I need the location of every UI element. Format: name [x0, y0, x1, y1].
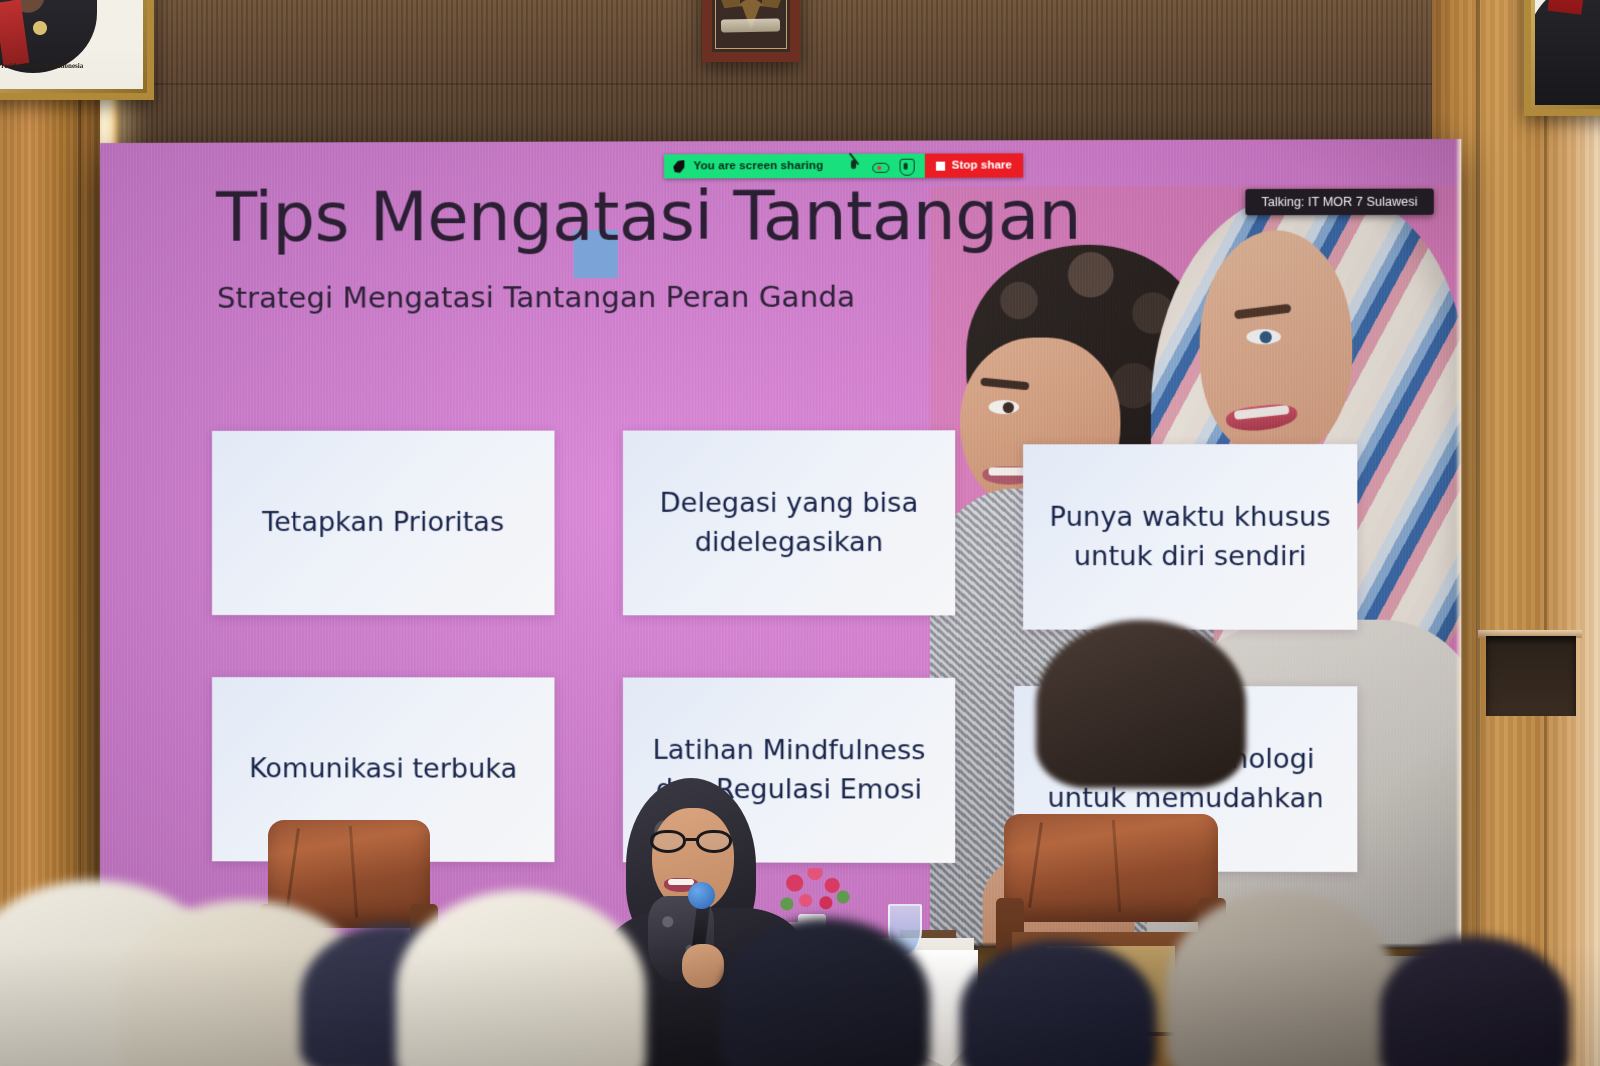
- garuda-icon: [714, 0, 788, 30]
- portrait-left-caption: Presiden Republik Indonesia: [0, 61, 91, 83]
- tip-card-label: Delegasi yang bisa didelegasikan: [623, 483, 955, 562]
- microphone-muted-icon[interactable]: [844, 157, 861, 174]
- portrait-figure: [1535, 0, 1600, 105]
- screenshot-root: Presiden Republik Indonesia Wakil: [0, 0, 1600, 1066]
- slide-subtitle: Strategi Mengatasi Tantangan Peran Ganda: [217, 280, 855, 315]
- portrait-right-art: Wakil: [1535, 0, 1600, 105]
- sharing-status-group: You are screen sharing: [664, 154, 924, 179]
- sharing-status-label: You are screen sharing: [693, 160, 835, 172]
- security-shield-icon[interactable]: [897, 157, 914, 174]
- woman-eye: [1246, 329, 1281, 344]
- eyeglasses-icon: [648, 830, 740, 854]
- talking-badge: Talking: IT MOR 7 Sulawesi: [1245, 189, 1434, 216]
- audience-head: [1036, 620, 1246, 788]
- portrait-left-art: Presiden Republik Indonesia: [0, 0, 143, 89]
- tip-card-label: Punya waktu khusus untuk diri sendiri: [1023, 497, 1357, 577]
- zoom-screen-share-toolbar[interactable]: You are screen sharing Stop share: [664, 153, 1023, 178]
- emblem-art: [712, 0, 790, 52]
- tip-card-label: Komunikasi terbuka: [235, 750, 531, 790]
- framed-portrait-right: Wakil: [1524, 0, 1600, 116]
- wood-seam: [1476, 0, 1480, 1066]
- screen-bezel-right: [1455, 139, 1461, 949]
- emblem-ribbon: [721, 19, 780, 33]
- slide-title: Tips Mengatasi Tantangan: [216, 182, 1081, 251]
- framed-emblem-center: [702, 0, 800, 62]
- tip-card: Punya waktu khusus untuk diri sendiri: [1023, 444, 1357, 630]
- stop-square-icon: [936, 161, 945, 170]
- cloud-recording-icon[interactable]: [871, 157, 888, 174]
- speaker-hand: [682, 944, 724, 988]
- tip-card: Delegasi yang bisa didelegasikan: [623, 430, 955, 615]
- portrait-badge-icon: [33, 21, 47, 35]
- tip-card-label: Tetapkan Prioritas: [248, 503, 518, 543]
- wall-recess: [1486, 636, 1576, 716]
- stop-share-label: Stop share: [952, 159, 1012, 171]
- wood-seam: [1544, 0, 1547, 1066]
- stop-share-button[interactable]: Stop share: [924, 153, 1023, 177]
- tip-card: Tetapkan Prioritas: [212, 431, 554, 616]
- child-eye: [989, 400, 1019, 414]
- microphone-head: [688, 882, 715, 909]
- zoom-leaf-icon: [673, 160, 684, 173]
- framed-portrait-left: Presiden Republik Indonesia: [0, 0, 154, 100]
